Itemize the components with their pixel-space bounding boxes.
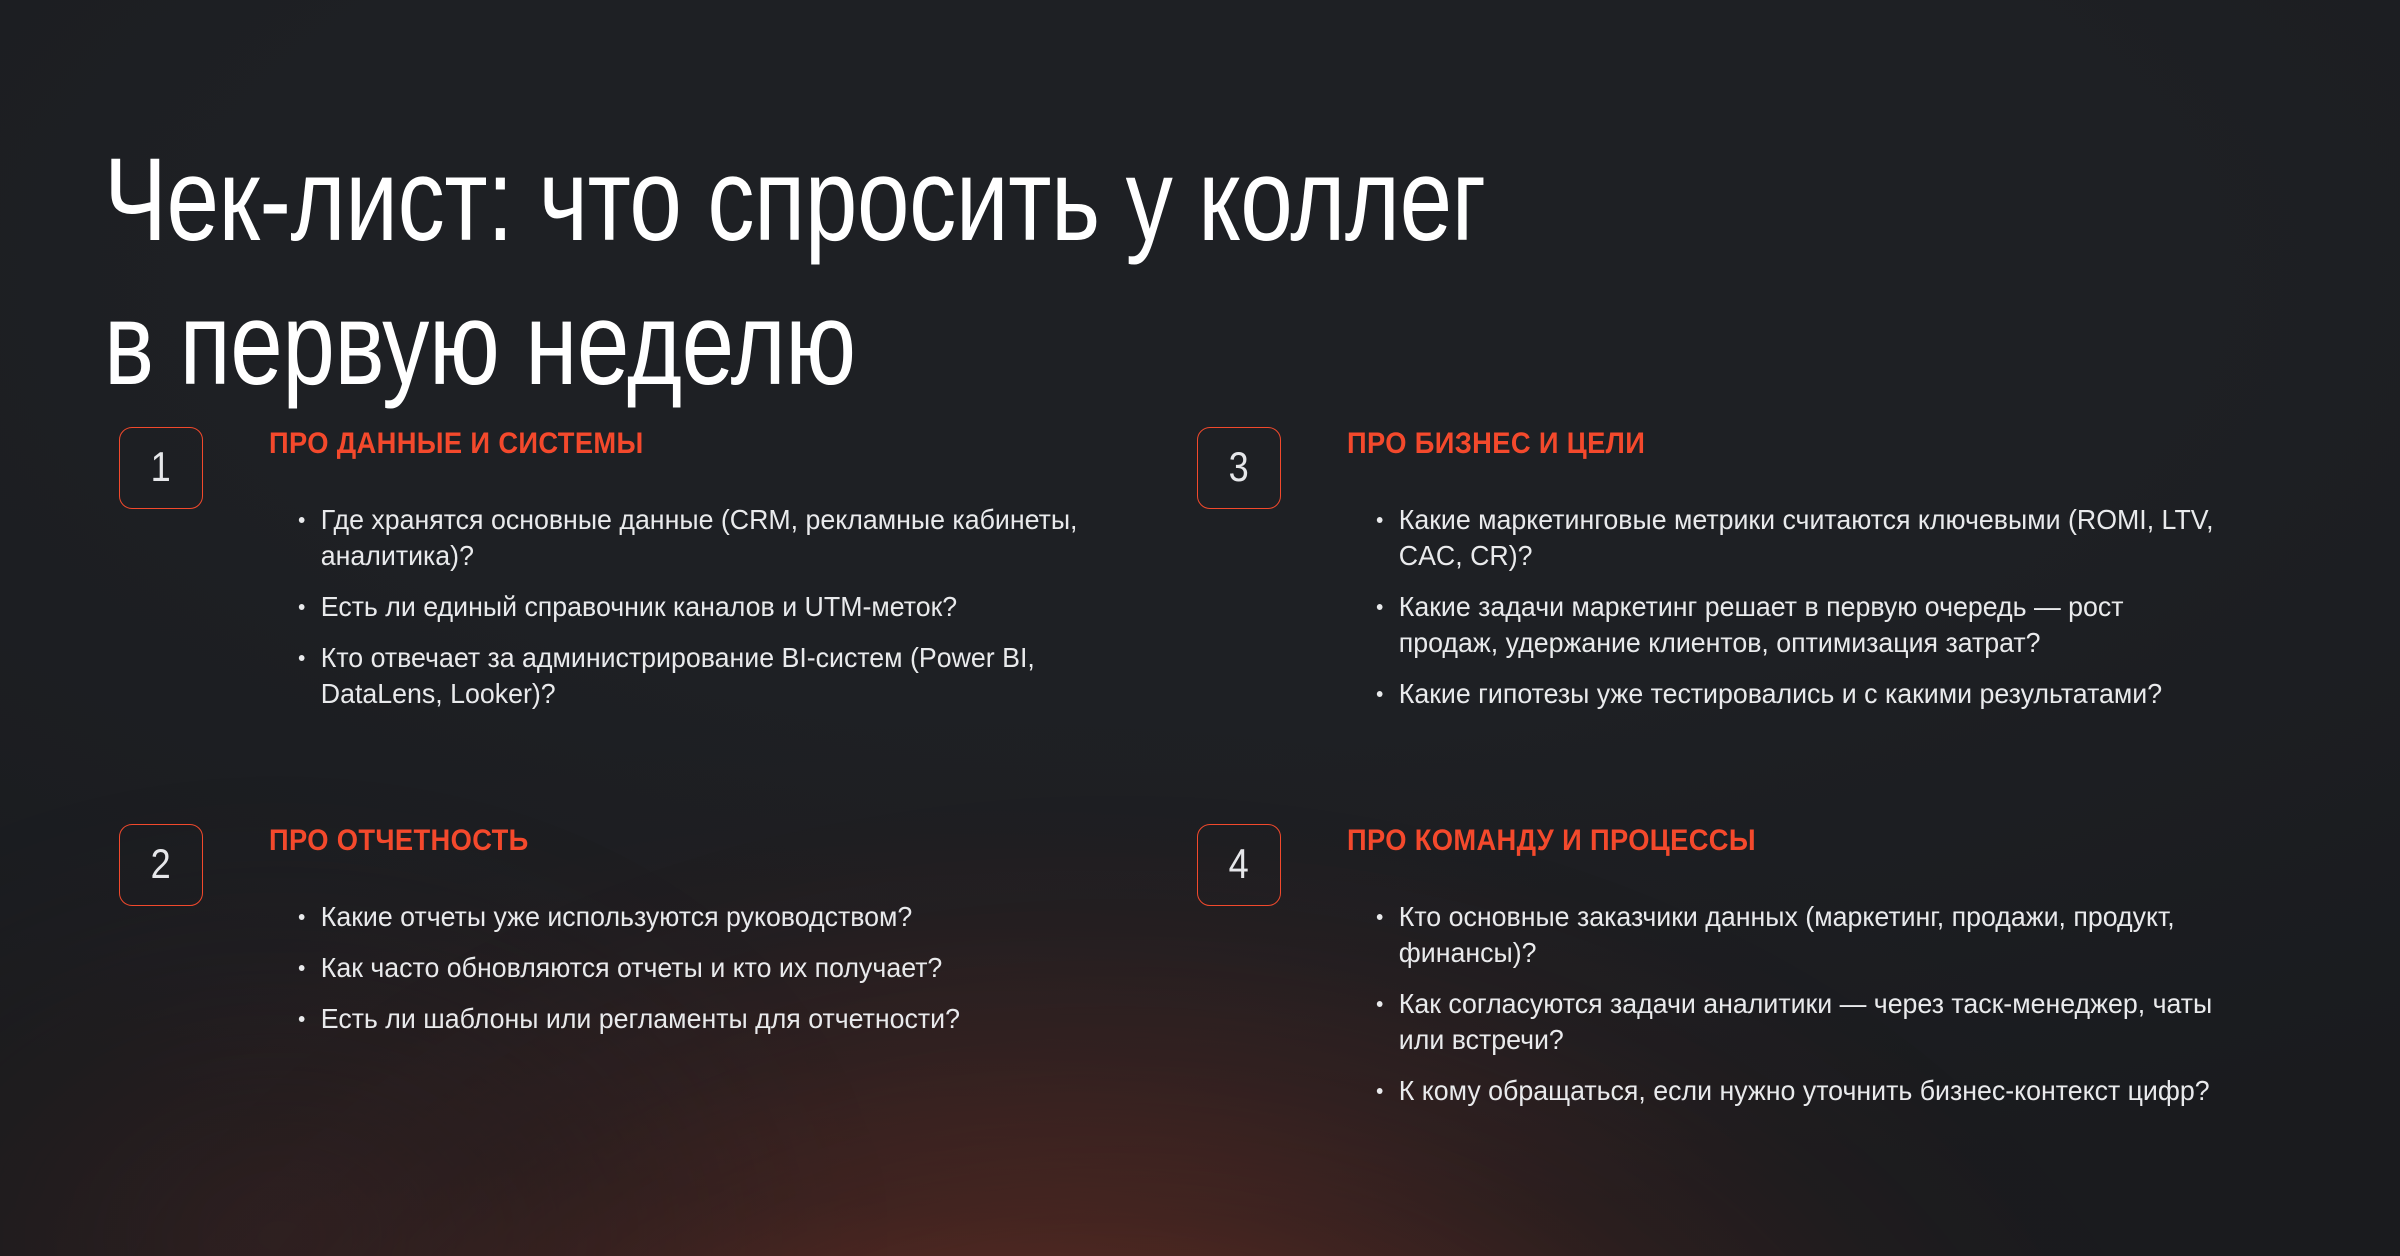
list-item: Какие маркетинговые метрики считаются кл… bbox=[1373, 502, 2217, 574]
slide-content: Чек-лист: что спросить у коллег в первую… bbox=[0, 0, 2400, 1256]
list-item: Кто основные заказчики данных (маркетинг… bbox=[1373, 899, 2217, 971]
section-body-1: ПРО ДАННЫЕ И СИСТЕМЫ Где хранятся основн… bbox=[269, 427, 1179, 712]
list-item: Есть ли единый справочник каналов и UTM-… bbox=[295, 589, 1139, 625]
list-item: Какие отчеты уже используются руководств… bbox=[295, 899, 1139, 935]
section-number-1: 1 bbox=[151, 446, 171, 488]
section-number-badge-1: 1 bbox=[119, 427, 203, 509]
section-number-badge-3: 3 bbox=[1197, 427, 1281, 509]
section-bullet-list-1: Где хранятся основные данные (CRM, рекла… bbox=[295, 502, 1179, 712]
list-item: К кому обращаться, если нужно уточнить б… bbox=[1373, 1073, 2217, 1109]
checklist-section-3: 3 ПРО БИЗНЕС И ЦЕЛИ Какие маркетинговые … bbox=[1197, 427, 2257, 712]
section-body-4: ПРО КОМАНДУ И ПРОЦЕССЫ Кто основные зака… bbox=[1347, 824, 2257, 1109]
checklist-section-2: 2 ПРО ОТЧЕТНОСТЬ Какие отчеты уже исполь… bbox=[119, 824, 1179, 1037]
section-body-3: ПРО БИЗНЕС И ЦЕЛИ Какие маркетинговые ме… bbox=[1347, 427, 2257, 712]
list-item: Кто отвечает за администрирование BI-сис… bbox=[295, 640, 1139, 712]
list-item: Как часто обновляются отчеты и кто их по… bbox=[295, 950, 1139, 986]
section-number-badge-4: 4 bbox=[1197, 824, 1281, 906]
section-number-3: 3 bbox=[1229, 446, 1249, 488]
section-heading-4: ПРО КОМАНДУ И ПРОЦЕССЫ bbox=[1347, 826, 2175, 856]
checklist-section-1: 1 ПРО ДАННЫЕ И СИСТЕМЫ Где хранятся осно… bbox=[119, 427, 1179, 712]
section-bullet-list-2: Какие отчеты уже используются руководств… bbox=[295, 899, 1179, 1037]
list-item: Какие гипотезы уже тестировались и с как… bbox=[1373, 676, 2217, 712]
section-body-2: ПРО ОТЧЕТНОСТЬ Какие отчеты уже использу… bbox=[269, 824, 1179, 1037]
section-heading-1: ПРО ДАННЫЕ И СИСТЕМЫ bbox=[269, 429, 1097, 459]
section-bullet-list-4: Кто основные заказчики данных (маркетинг… bbox=[1373, 899, 2257, 1109]
section-heading-3: ПРО БИЗНЕС И ЦЕЛИ bbox=[1347, 429, 2175, 459]
slide-title-line-1: Чек-лист: что спросить у коллег bbox=[104, 141, 1848, 259]
section-bullet-list-3: Какие маркетинговые метрики считаются кл… bbox=[1373, 502, 2257, 712]
list-item: Какие задачи маркетинг решает в первую о… bbox=[1373, 589, 2217, 661]
slide-root: Чек-лист: что спросить у коллег в первую… bbox=[0, 0, 2400, 1256]
section-heading-2: ПРО ОТЧЕТНОСТЬ bbox=[269, 826, 1097, 856]
slide-title-line-2: в первую неделю bbox=[104, 285, 1848, 403]
section-number-4: 4 bbox=[1229, 843, 1249, 885]
section-number-badge-2: 2 bbox=[119, 824, 203, 906]
section-number-2: 2 bbox=[151, 843, 171, 885]
slide-title: Чек-лист: что спросить у коллег в первую… bbox=[104, 141, 1848, 403]
checklist-section-4: 4 ПРО КОМАНДУ И ПРОЦЕССЫ Кто основные за… bbox=[1197, 824, 2257, 1109]
list-item: Где хранятся основные данные (CRM, рекла… bbox=[295, 502, 1139, 574]
list-item: Есть ли шаблоны или регламенты для отчет… bbox=[295, 1001, 1139, 1037]
list-item: Как согласуются задачи аналитики — через… bbox=[1373, 986, 2217, 1058]
